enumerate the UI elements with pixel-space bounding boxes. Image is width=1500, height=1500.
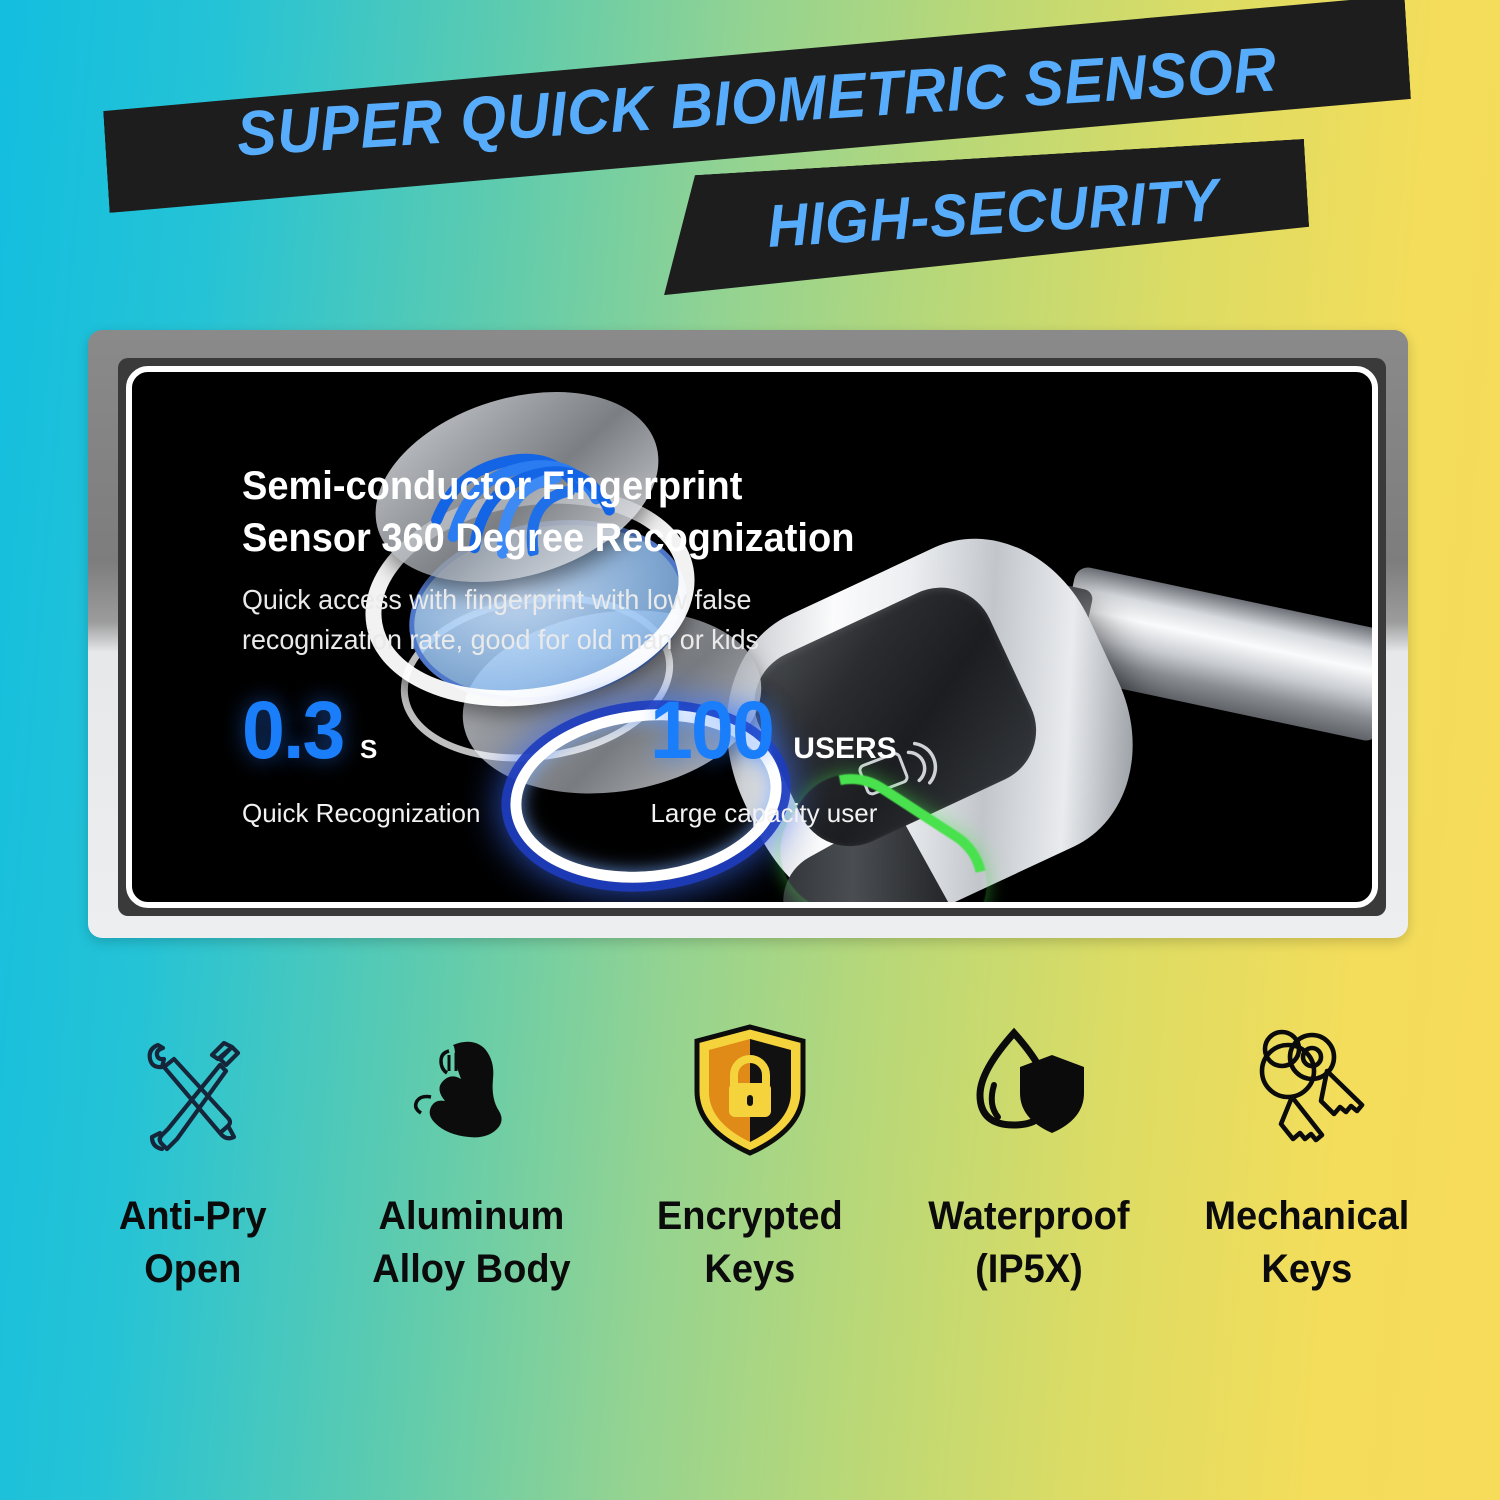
stat-value: 0.3 xyxy=(242,690,344,772)
feature-label-line1: Anti-Pry xyxy=(119,1190,267,1243)
panel-heading: Semi-conductor Fingerprint Sensor 360 De… xyxy=(242,460,854,564)
feature-label-line1: Waterproof xyxy=(928,1190,1129,1243)
feature-label-line2: Open xyxy=(119,1243,267,1296)
feature-label-line2: Keys xyxy=(1205,1243,1410,1296)
feature-label: Mechanical Keys xyxy=(1205,1190,1410,1296)
feature-anti-pry: Anti-Pry Open xyxy=(60,1020,326,1296)
feature-label-line2: (IP5X) xyxy=(928,1243,1129,1296)
stat-unit: USERS xyxy=(793,732,896,766)
feature-label: Aluminum Alloy Body xyxy=(372,1190,570,1296)
headline-text-secondary: HIGH-SECURITY xyxy=(747,165,1222,270)
feature-aluminum-alloy: Aluminum Alloy Body xyxy=(339,1020,605,1296)
feature-mechanical-keys: Mechanical Keys xyxy=(1174,1020,1440,1296)
stat-user-capacity: 100 USERS Large capacity user xyxy=(650,690,896,829)
feature-label-line1: Mechanical xyxy=(1205,1190,1410,1243)
stat-unit: S xyxy=(360,734,377,765)
feature-label: Anti-Pry Open xyxy=(119,1190,267,1296)
panel-subtext-line2: recognization rate, good for old man or … xyxy=(242,620,759,660)
panel-subtext-line1: Quick access with fingerprint with low f… xyxy=(242,580,759,620)
panel-screen: Semi-conductor Fingerprint Sensor 360 De… xyxy=(126,366,1378,908)
feature-label-line2: Keys xyxy=(657,1243,843,1296)
lock-collar xyxy=(1030,584,1094,728)
flexing-bicep-icon xyxy=(407,1020,537,1160)
feature-label: Encrypted Keys xyxy=(657,1190,843,1296)
product-feature-panel: Semi-conductor Fingerprint Sensor 360 De… xyxy=(88,330,1408,938)
feature-label: Waterproof (IP5X) xyxy=(928,1190,1129,1296)
lock-shaft xyxy=(1054,565,1378,743)
crossed-crowbars-icon xyxy=(128,1020,258,1160)
stat-quick-recognition: 0.3 S Quick Recognization xyxy=(242,690,480,829)
feature-encrypted-keys: Encrypted Keys xyxy=(617,1020,883,1296)
stat-caption: Quick Recognization xyxy=(242,798,480,829)
stat-value: 100 xyxy=(650,690,773,772)
panel-stats: 0.3 S Quick Recognization 100 USERS Larg… xyxy=(242,690,897,829)
feature-waterproof: Waterproof (IP5X) xyxy=(896,1020,1162,1296)
water-drop-shield-icon xyxy=(966,1020,1092,1160)
feature-label-line2: Alloy Body xyxy=(372,1243,570,1296)
feature-label-line1: Aluminum xyxy=(372,1190,570,1243)
panel-heading-line2: Sensor 360 Degree Recognization xyxy=(242,512,854,564)
stat-value-row: 0.3 S xyxy=(242,690,480,772)
panel-subtext: Quick access with fingerprint with low f… xyxy=(242,580,759,660)
feature-label-line1: Encrypted xyxy=(657,1190,843,1243)
stat-caption: Large capacity user xyxy=(650,798,896,829)
stat-value-row: 100 USERS xyxy=(650,690,896,772)
key-ring-icon xyxy=(1242,1020,1372,1160)
shield-padlock-icon xyxy=(687,1020,813,1160)
panel-heading-line1: Semi-conductor Fingerprint xyxy=(242,460,854,512)
feature-list: Anti-Pry Open Aluminum Alloy Body xyxy=(60,1020,1440,1296)
headline-banner-secondary: HIGH-SECURITY xyxy=(657,139,1311,295)
